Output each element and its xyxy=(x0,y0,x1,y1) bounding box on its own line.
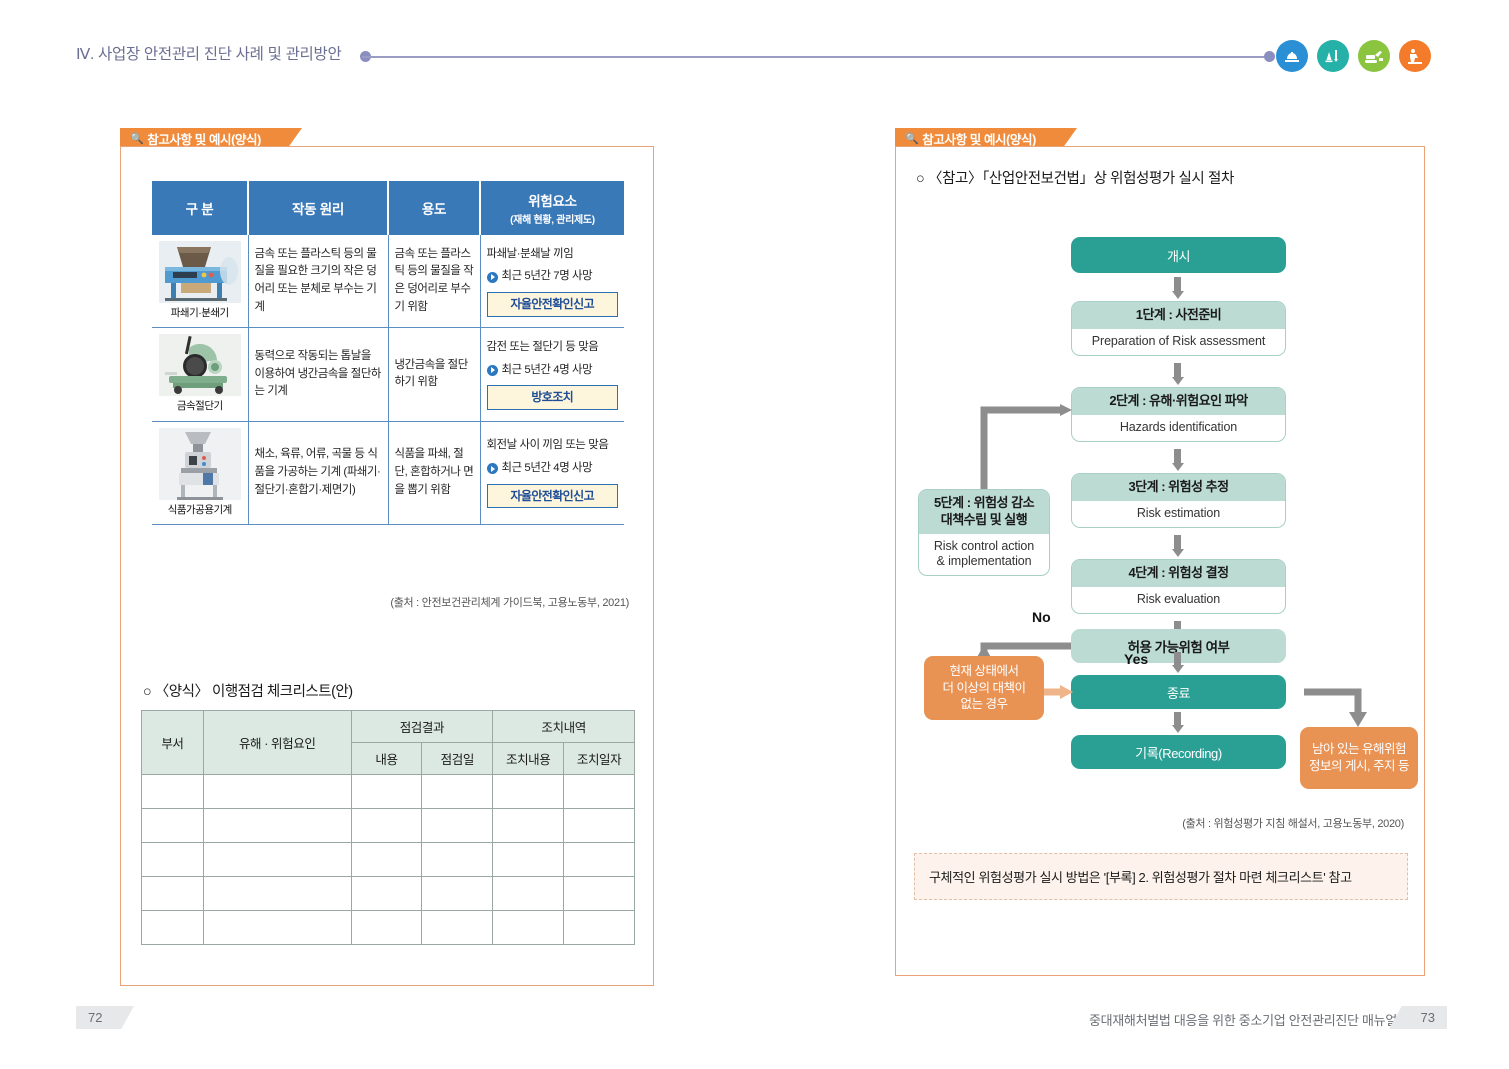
checklist-header-action-date: 조치일자 xyxy=(564,743,635,775)
list-item[interactable] xyxy=(142,911,635,945)
flow-node-step3-en: Risk estimation xyxy=(1072,501,1285,527)
cell-action-content[interactable] xyxy=(493,911,564,945)
flow-arrow-4 xyxy=(1171,535,1184,557)
cell-hazard[interactable] xyxy=(203,843,351,877)
flow-node-step5: 5단계 : 위험성 감소 대책수립 및 실행 Risk control acti… xyxy=(918,489,1050,576)
cell-result-content[interactable] xyxy=(351,843,422,877)
tip-box: 구체적인 위험성평가 실시 방법은 '[부록] 2. 위험성평가 절차 마련 체… xyxy=(914,853,1408,900)
checklist-header-action-content: 조치내용 xyxy=(493,743,564,775)
chapter-title: Ⅳ. 사업장 안전관리 진단 사례 및 관리방안 xyxy=(76,42,341,64)
cell-hazard[interactable] xyxy=(203,809,351,843)
risk-stat-row: 최근 5년간 4명 사망 xyxy=(487,362,619,380)
risk-stat: 최근 5년간 4명 사망 xyxy=(502,460,593,478)
cell-action-date[interactable] xyxy=(564,809,635,843)
cell-action-content[interactable] xyxy=(493,775,564,809)
flow-node-step2: 2단계 : 유해·위험요인 파악 Hazards identification xyxy=(1071,387,1286,442)
checklist-body xyxy=(142,775,635,945)
machine-table-source: (출처 : 안전보건관리체계 가이드북, 고용노동부, 2021) xyxy=(390,594,629,610)
cell-dept[interactable] xyxy=(142,843,204,877)
play-bullet-icon xyxy=(487,463,498,474)
checklist-header-result-date: 점검일 xyxy=(422,743,493,775)
magnifier-icon: 🔍 xyxy=(905,132,918,145)
table-row: 금속절단기 동력으로 작동되는 톱날을 이용하여 냉간금속을 절단하는 기계 냉… xyxy=(152,328,624,421)
page-header: Ⅳ. 사업장 안전관리 진단 사례 및 관리방안 xyxy=(0,0,1509,92)
cell-action-date[interactable] xyxy=(564,843,635,877)
flow-node-start-label: 개시 xyxy=(1167,246,1190,265)
play-bullet-icon xyxy=(487,365,498,376)
machine-cell-use: 식품을 파쇄, 절단, 혼합하거나 면을 뽑기 위함 xyxy=(388,421,480,524)
cell-action-date[interactable] xyxy=(564,775,635,809)
cell-result-date[interactable] xyxy=(422,775,493,809)
flow-node-record-label: 기록(Recording) xyxy=(1135,743,1222,762)
cell-action-content[interactable] xyxy=(493,843,564,877)
flow-label-yes: Yes xyxy=(1124,651,1148,667)
flow-arrow-yes xyxy=(1171,652,1184,674)
page-root: Ⅳ. 사업장 안전관리 진단 사례 및 관리방안 🔍 참고사항 및 예시(양식) xyxy=(0,0,1509,1069)
machine-cell-image: 금속절단기 xyxy=(152,328,248,421)
flow-node-step5-en: Risk control action & implementation xyxy=(919,534,1049,575)
machine-cell-risk: 회전날 사이 끼임 또는 맞음 최근 5년간 4명 사망 자율안전확인신고 xyxy=(480,421,624,524)
page-footer: 72 중대재해처벌법 대응을 위한 중소기업 안전관리진단 매뉴얼 73 xyxy=(0,1000,1509,1040)
table-row: 파쇄기·분쇄기 금속 또는 플라스틱 등의 물질을 필요한 크기의 작은 덩어리… xyxy=(152,235,624,328)
cell-hazard[interactable] xyxy=(203,775,351,809)
header-principle: 작동 원리 xyxy=(248,181,388,235)
cell-result-date[interactable] xyxy=(422,843,493,877)
list-item[interactable] xyxy=(142,775,635,809)
magnifier-icon: 🔍 xyxy=(130,132,143,145)
flow-node-step4-en: Risk evaluation xyxy=(1072,587,1285,613)
play-bullet-icon xyxy=(487,272,498,283)
cell-dept[interactable] xyxy=(142,877,204,911)
machine-cell-use: 냉간금속을 절단하기 위함 xyxy=(388,328,480,421)
machine-cell-risk: 감전 또는 절단기 등 맞음 최근 5년간 4명 사망 방호조치 xyxy=(480,328,624,421)
excavator-icon xyxy=(1358,40,1390,72)
food-processing-photo xyxy=(159,428,241,500)
cell-dept[interactable] xyxy=(142,911,204,945)
page-number-right: 73 xyxy=(1389,1006,1447,1029)
worker-icon xyxy=(1399,40,1431,72)
flow-node-record: 기록(Recording) xyxy=(1071,735,1286,769)
machine-table-header-row: 구 분 작동 원리 용도 위험요소 (재해 현황, 관리제도) xyxy=(152,181,624,235)
flow-node-step3-kr: 3단계 : 위험성 추정 xyxy=(1072,474,1285,501)
no-measures-line2: 더 이상의 대책이 xyxy=(943,680,1026,697)
list-item[interactable] xyxy=(142,877,635,911)
metal-cutter-photo xyxy=(159,334,241,396)
flow-node-start: 개시 xyxy=(1071,237,1286,273)
no-measures-line3: 없는 경우 xyxy=(961,696,1008,713)
cell-action-content[interactable] xyxy=(493,877,564,911)
flow-arrow-2 xyxy=(1171,363,1184,385)
checklist-header-action-group: 조치내역 xyxy=(493,711,635,743)
flow-node-step1-kr: 1단계 : 사전준비 xyxy=(1072,302,1285,329)
cell-result-content[interactable] xyxy=(351,775,422,809)
list-item[interactable] xyxy=(142,809,635,843)
cell-result-content[interactable] xyxy=(351,809,422,843)
flow-node-step2-en: Hazards identification xyxy=(1072,415,1285,441)
checklist-header-dept: 부서 xyxy=(142,711,204,775)
header-risk: 위험요소 (재해 현황, 관리제도) xyxy=(480,181,624,235)
machine-cell-use: 금속 또는 플라스틱 등의 물질을 작은 덩어리로 부수기 위함 xyxy=(388,235,480,328)
risk-text: 감전 또는 절단기 등 맞음 xyxy=(487,339,619,357)
flow-node-step5-kr-line1: 5단계 : 위험성 감소 xyxy=(934,495,1034,510)
flow-node-residual-info: 남아 있는 유해위험 정보의 게시, 주지 등 xyxy=(1300,727,1418,789)
flow-node-step4: 4단계 : 위험성 결정 Risk evaluation xyxy=(1071,559,1286,614)
flow-node-step5-en-line2: & implementation xyxy=(937,554,1032,568)
flow-node-step2-kr: 2단계 : 유해·위험요인 파악 xyxy=(1072,388,1285,415)
risk-assessment-flowchart: 개시 1단계 : 사전준비 Preparation of Risk assess… xyxy=(896,147,1426,827)
machine-cell-principle: 금속 또는 플라스틱 등의 물질을 필요한 크기의 작은 덩어리 또는 분체로 … xyxy=(248,235,388,328)
cell-result-content[interactable] xyxy=(351,911,422,945)
flow-node-step5-kr-line2: 대책수립 및 실행 xyxy=(941,512,1027,527)
checklist-header-row-1: 부서 유해 · 위험요인 점검결과 조치내역 xyxy=(142,711,635,743)
header-rule xyxy=(362,56,1270,58)
risk-stat-row: 최근 5년간 4명 사망 xyxy=(487,460,619,478)
list-item[interactable] xyxy=(142,843,635,877)
machine-cell-image: 식품가공용기계 xyxy=(152,421,248,524)
risk-stat: 최근 5년간 7명 사망 xyxy=(502,268,593,286)
risk-text: 회전날 사이 끼임 또는 맞음 xyxy=(487,437,619,455)
status-badge: 자율안전확인신고 xyxy=(487,292,619,317)
flow-arrow-1 xyxy=(1171,277,1184,299)
checklist-header-hazard: 유해 · 위험요인 xyxy=(203,711,351,775)
flow-node-step1: 1단계 : 사전준비 Preparation of Risk assessmen… xyxy=(1071,301,1286,356)
flow-node-step3: 3단계 : 위험성 추정 Risk estimation xyxy=(1071,473,1286,528)
left-panel: 구 분 작동 원리 용도 위험요소 (재해 현황, 관리제도) xyxy=(120,146,654,986)
machine-cell-image: 파쇄기·분쇄기 xyxy=(152,235,248,328)
checklist-title: ○ 〈양식〉 이행점검 체크리스트(안) xyxy=(143,680,353,701)
header-icon-group xyxy=(1276,40,1431,72)
machine-cell-principle: 동력으로 작동되는 톱날을 이용하여 냉간금속을 절단하는 기계 xyxy=(248,328,388,421)
flow-node-end-label: 종료 xyxy=(1167,683,1190,702)
shovel-cone-icon xyxy=(1317,40,1349,72)
checklist-header-result-group: 점검결과 xyxy=(351,711,493,743)
flow-node-end: 종료 xyxy=(1071,675,1286,709)
header-risk-main: 위험요소 xyxy=(528,194,576,209)
header-risk-sub: (재해 현황, 관리제도) xyxy=(485,211,620,226)
shredder-photo xyxy=(159,241,241,303)
machine-cell-risk: 파쇄날·분쇄날 끼임 최근 5년간 7명 사망 자율안전확인신고 xyxy=(480,235,624,328)
checklist-table: 부서 유해 · 위험요인 점검결과 조치내역 내용 점검일 조치내용 조치일자 xyxy=(141,710,635,945)
flow-node-step5-kr: 5단계 : 위험성 감소 대책수립 및 실행 xyxy=(919,490,1049,534)
cell-dept[interactable] xyxy=(142,809,204,843)
cell-result-content[interactable] xyxy=(351,877,422,911)
flow-arrow-3 xyxy=(1171,449,1184,471)
cell-result-date[interactable] xyxy=(422,809,493,843)
flow-node-no-measures: 현재 상태에서 더 이상의 대책이 없는 경우 xyxy=(924,656,1044,720)
cell-result-date[interactable] xyxy=(422,911,493,945)
header-use: 용도 xyxy=(388,181,480,235)
risk-stat-row: 최근 5년간 7명 사망 xyxy=(487,268,619,286)
cell-hazard[interactable] xyxy=(203,877,351,911)
book-title: 중대재해처벌법 대응을 위한 중소기업 안전관리진단 매뉴얼 xyxy=(1089,1010,1397,1029)
cell-hazard[interactable] xyxy=(203,911,351,945)
checklist-header-result-content: 내용 xyxy=(351,743,422,775)
residual-info-line2: 정보의 게시, 주지 등 xyxy=(1309,758,1409,775)
cell-action-content[interactable] xyxy=(493,809,564,843)
residual-info-line1: 남아 있는 유해위험 xyxy=(1312,741,1406,758)
cell-action-date[interactable] xyxy=(564,877,635,911)
machine-name: 파쇄기·분쇄기 xyxy=(154,305,246,321)
flow-label-no: No xyxy=(1032,609,1051,625)
right-panel: ○ 〈참고〉「산업안전보건법」상 위험성평가 실시 절차 개시 1단계 : 사전… xyxy=(895,146,1425,976)
machine-table: 구 분 작동 원리 용도 위험요소 (재해 현황, 관리제도) xyxy=(152,181,624,525)
no-measures-line1: 현재 상태에서 xyxy=(950,663,1019,680)
cell-dept[interactable] xyxy=(142,775,204,809)
header-dot-right xyxy=(1264,51,1275,62)
flow-node-step1-en: Preparation of Risk assessment xyxy=(1072,329,1285,355)
flow-node-step4-kr: 4단계 : 위험성 결정 xyxy=(1072,560,1285,587)
cell-action-date[interactable] xyxy=(564,911,635,945)
page-number-left: 72 xyxy=(76,1006,134,1029)
flow-arrow-6 xyxy=(1171,712,1184,734)
flow-node-step5-en-line1: Risk control action xyxy=(934,539,1034,553)
machine-name: 금속절단기 xyxy=(154,398,246,414)
status-badge: 방호조치 xyxy=(487,385,619,410)
hardhat-icon xyxy=(1276,40,1308,72)
cell-result-date[interactable] xyxy=(422,877,493,911)
machine-name: 식품가공용기계 xyxy=(154,502,246,518)
machine-cell-principle: 채소, 육류, 어류, 곡물 등 식품을 가공하는 기계 (파쇄기·절단기·혼합… xyxy=(248,421,388,524)
risk-text: 파쇄날·분쇄날 끼임 xyxy=(487,246,619,264)
risk-stat: 최근 5년간 4명 사망 xyxy=(502,362,593,380)
table-row: 식품가공용기계 채소, 육류, 어류, 곡물 등 식품을 가공하는 기계 (파쇄… xyxy=(152,421,624,524)
status-badge: 자율안전확인신고 xyxy=(487,484,619,509)
flow-source: (출처 : 위험성평가 지침 해설서, 고용노동부, 2020) xyxy=(1182,815,1404,831)
header-category: 구 분 xyxy=(152,181,248,235)
